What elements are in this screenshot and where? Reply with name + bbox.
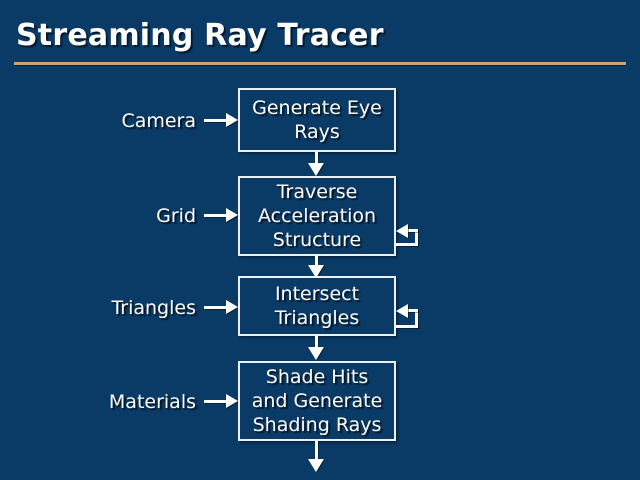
input-label-materials: Materials [40, 391, 196, 413]
input-arrow-head-triangles [226, 300, 238, 314]
slide: Streaming Ray Tracer Camera Generate Eye… [0, 0, 640, 480]
output-arrow-head [308, 459, 324, 472]
node-generate-eye-rays[interactable]: Generate Eye Rays [238, 88, 396, 152]
input-label-camera: Camera [40, 110, 196, 132]
input-arrow-shaft-camera [204, 119, 226, 122]
input-arrow-shaft-grid [204, 214, 226, 217]
input-arrow-shaft-materials [204, 400, 226, 403]
node-label-traverse-acceleration-structure: Traverse Acceleration Structure [254, 180, 380, 252]
node-intersect-triangles[interactable]: Intersect Triangles [238, 276, 396, 336]
input-arrow-head-materials [226, 394, 238, 408]
self-loop-head-intersect [396, 304, 408, 318]
node-traverse-acceleration-structure[interactable]: Traverse Acceleration Structure [238, 176, 396, 256]
connector-head-3-4 [308, 347, 324, 360]
node-label-intersect-triangles: Intersect Triangles [271, 282, 364, 330]
self-loop-top-intersect [408, 309, 418, 312]
self-loop-head-traverse [396, 224, 408, 238]
self-loop-top-traverse [408, 229, 418, 232]
input-arrow-shaft-triangles [204, 306, 226, 309]
input-label-grid: Grid [40, 205, 196, 227]
node-label-shade-hits-and-generate-shading-rays: Shade Hits and Generate Shading Rays [248, 365, 387, 437]
input-arrow-head-grid [226, 208, 238, 222]
input-arrow-head-camera [226, 113, 238, 127]
node-shade-hits-and-generate-shading-rays[interactable]: Shade Hits and Generate Shading Rays [238, 361, 396, 441]
node-label-generate-eye-rays: Generate Eye Rays [248, 96, 386, 144]
input-label-triangles: Triangles [40, 297, 196, 319]
flowchart-diagram: Camera Generate Eye Rays Grid Traverse A… [0, 0, 640, 480]
connector-head-1-2 [308, 163, 324, 176]
